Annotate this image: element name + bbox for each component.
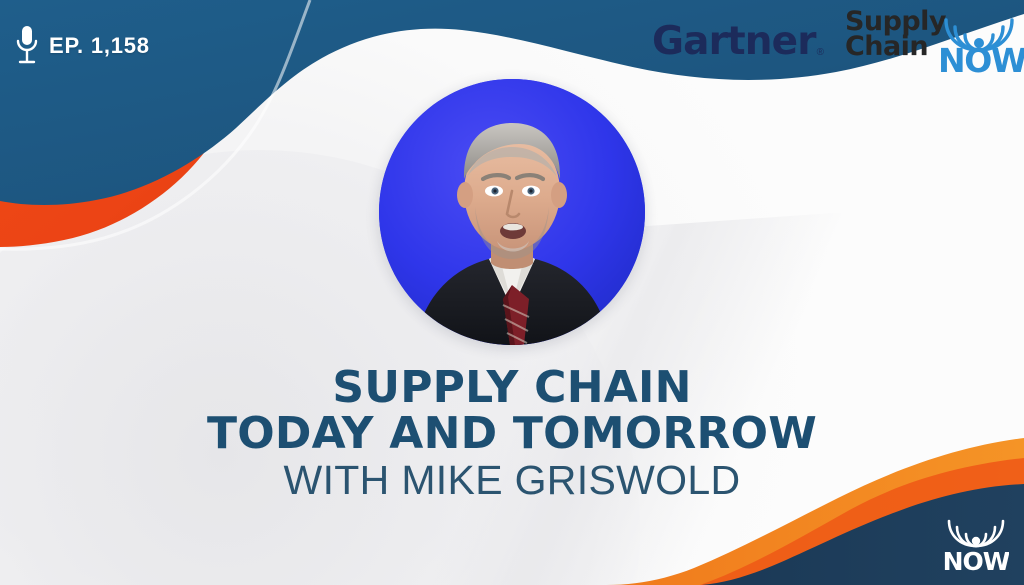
title-block: SUPPLY CHAIN TODAY AND TOMORROW WITH MIK…: [0, 366, 1024, 502]
supply-chain-now-logo[interactable]: Supply Chain NOW: [845, 8, 1015, 86]
now-signal-dot: [972, 537, 980, 545]
title-line-1: SUPPLY CHAIN: [0, 366, 1024, 410]
gartner-logo[interactable]: Gartner ®: [652, 22, 824, 61]
episode-cover-canvas: EP. 1,158 Gartner ® Supply Chain NOW: [0, 0, 1024, 585]
episode-badge: EP. 1,158: [14, 24, 150, 68]
episode-number-label: EP. 1,158: [49, 33, 150, 59]
now-corner-word: NOW: [943, 547, 1009, 574]
gartner-wordmark: Gartner: [652, 22, 816, 61]
guest-portrait: [379, 79, 645, 345]
guest-portrait-image: [379, 79, 645, 345]
supply-chain-now-line2: Chain: [845, 35, 928, 60]
title-subtitle-guest: WITH MIKE GRISWOLD: [0, 459, 1024, 502]
microphone-icon: [14, 24, 40, 68]
supply-chain-now-word: NOW: [938, 44, 1024, 77]
registered-trademark-icon: ®: [817, 48, 824, 58]
now-corner-logo[interactable]: NOW: [943, 512, 1009, 574]
title-line-2: TODAY AND TOMORROW: [0, 412, 1024, 456]
